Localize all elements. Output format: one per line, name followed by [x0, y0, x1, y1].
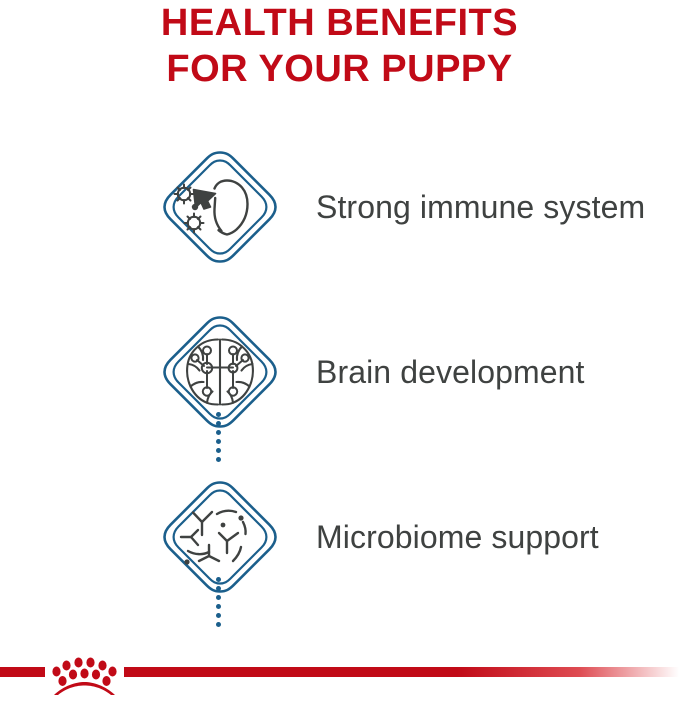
page-title-line-1: HEALTH BENEFITS [0, 0, 679, 46]
page-title-line-2: FOR YOUR PUPPY [0, 46, 679, 92]
brand-rule-right [124, 667, 679, 677]
benefit-item-immune: Strong immune system [0, 147, 679, 267]
benefits-list: Strong immune system [0, 140, 679, 620]
benefit-label-immune: Strong immune system [316, 186, 679, 228]
dotted-connector-2 [216, 577, 221, 629]
footer [0, 630, 679, 696]
dotted-connector-1 [216, 412, 221, 464]
brand-rule-left [0, 667, 45, 677]
immune-shield-icon [157, 147, 283, 267]
royal-canin-crown-icon [46, 657, 122, 696]
benefit-label-brain: Brain development [316, 351, 679, 393]
benefit-item-microbiome: Microbiome support [0, 477, 679, 597]
benefit-label-microbiome: Microbiome support [316, 516, 679, 558]
page-title: HEALTH BENEFITS FOR YOUR PUPPY [0, 0, 679, 92]
benefit-item-brain: Brain development [0, 312, 679, 432]
